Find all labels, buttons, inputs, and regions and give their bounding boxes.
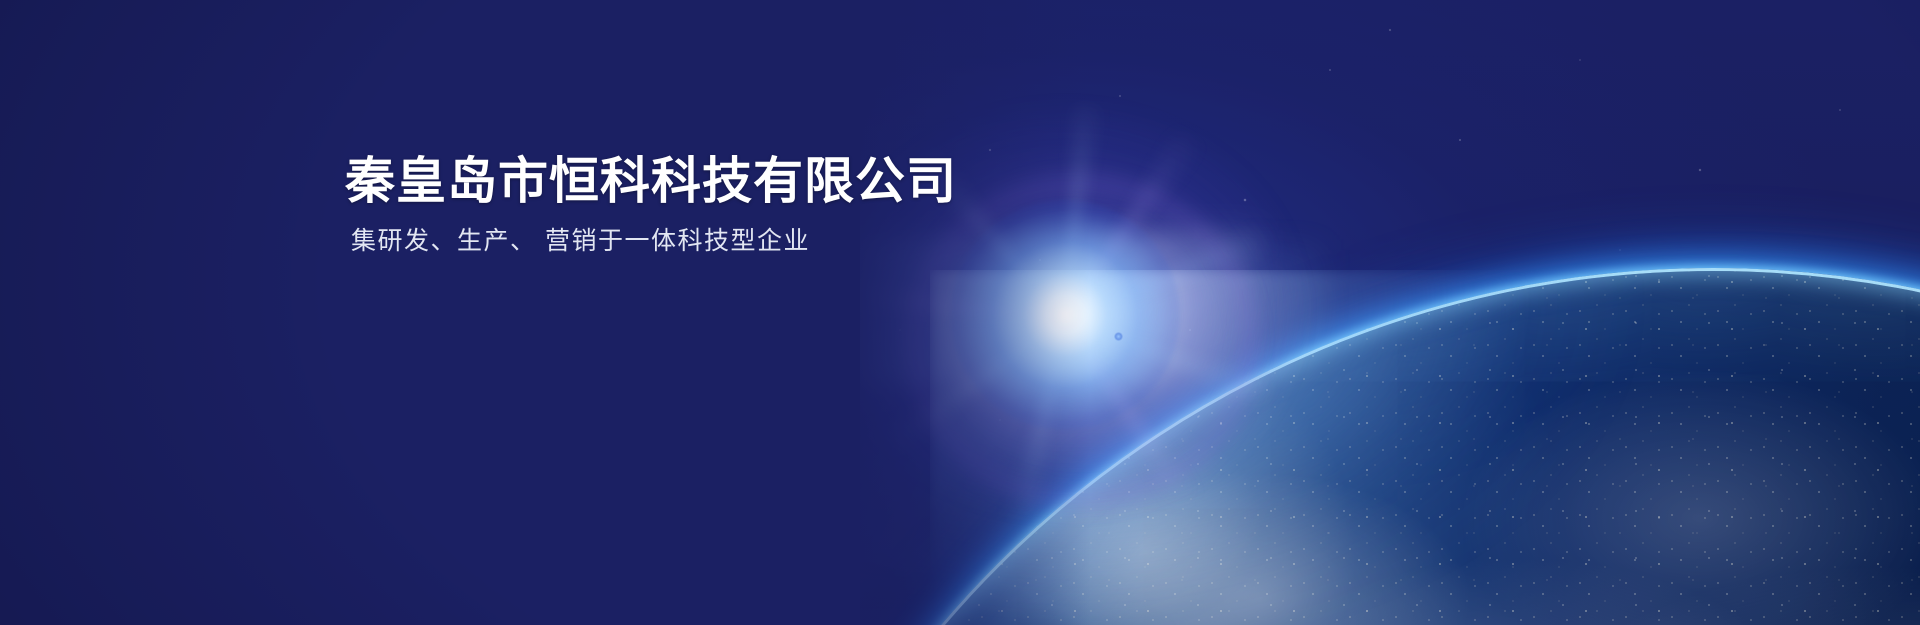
company-tagline: 集研发、生产、 营销于一体科技型企业 [351, 224, 957, 258]
text-backdrop-panel [0, 0, 860, 625]
hero-banner: 秦皇岛市恒科科技有限公司 集研发、生产、 营销于一体科技型企业 [0, 0, 1920, 625]
satellite-dot-icon [1114, 332, 1123, 341]
banner-copy: 秦皇岛市恒科科技有限公司 集研发、生产、 营销于一体科技型企业 [345, 152, 957, 258]
company-name-heading: 秦皇岛市恒科科技有限公司 [345, 152, 957, 210]
